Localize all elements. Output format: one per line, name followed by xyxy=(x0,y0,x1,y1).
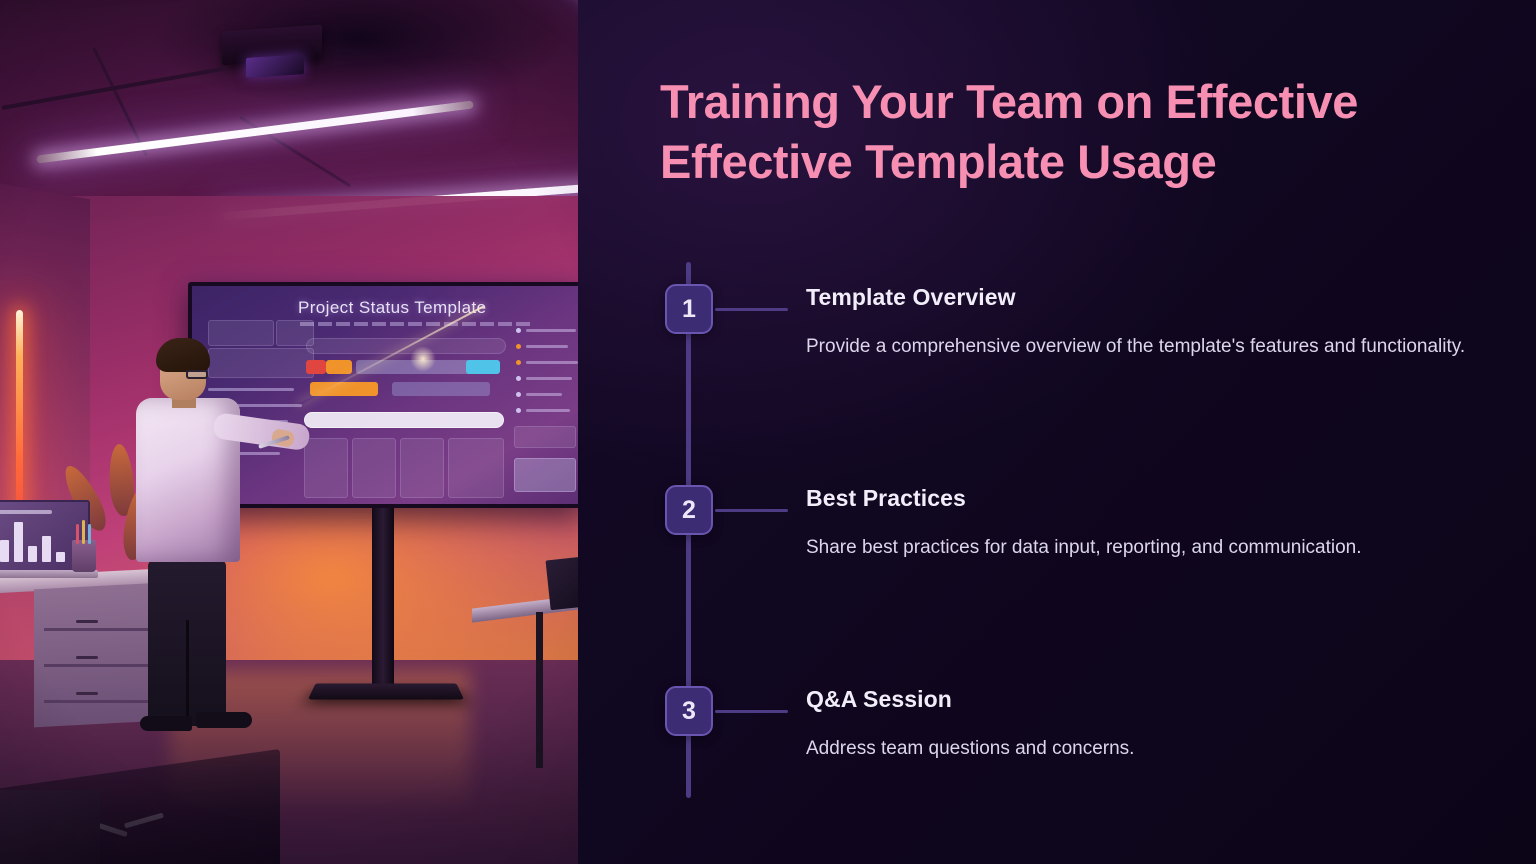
screen-legend-label xyxy=(526,377,572,380)
laptop-chart-bar xyxy=(56,552,65,562)
laptop-chart-bar xyxy=(42,536,51,562)
presentation-photo: Project Status Template xyxy=(0,0,578,864)
screen-bar xyxy=(392,382,490,396)
screen-title: Project Status Template xyxy=(298,298,486,318)
timeline-step-badge: 1 xyxy=(665,284,713,334)
drawer-handle xyxy=(76,620,98,623)
wall-display: Project Status Template xyxy=(188,282,578,508)
screen-bar xyxy=(326,360,352,374)
timeline-connector xyxy=(715,509,788,512)
screen-widget xyxy=(208,348,314,378)
screen-card xyxy=(400,438,444,498)
screen-legend-dot xyxy=(516,344,521,349)
slide-root: Project Status Template xyxy=(0,0,1536,864)
pencil xyxy=(88,524,91,544)
screen-card xyxy=(352,438,396,498)
laptop-chart-bar xyxy=(0,540,9,562)
drawer-line xyxy=(44,628,152,631)
screen-card xyxy=(514,426,576,448)
pencil-cup xyxy=(72,540,96,572)
presenter-glasses-icon xyxy=(186,370,208,379)
content-panel: Training Your Team on Effective Effectiv… xyxy=(578,0,1536,864)
timeline-connector xyxy=(715,710,788,713)
foreground-object xyxy=(0,790,100,864)
screen-legend-dot xyxy=(516,392,521,397)
side-table-leg xyxy=(536,612,543,768)
screen-legend-label xyxy=(526,345,568,348)
laptop-chart-bar xyxy=(28,546,37,562)
screen-legend-dot xyxy=(516,376,521,381)
laptop-chart-bar xyxy=(14,522,23,562)
timeline-item-heading: Q&A Session xyxy=(806,686,1466,714)
timeline-step-badge: 3 xyxy=(665,686,713,736)
timeline-item-body: Best Practices Share best practices for … xyxy=(806,485,1466,564)
slide-title: Training Your Team on Effective Effectiv… xyxy=(660,72,1470,192)
timeline-item-description: Share best practices for data input, rep… xyxy=(806,532,1466,565)
timeline-connector xyxy=(715,308,788,311)
screen-legend-dot xyxy=(516,328,521,333)
timeline-item-body: Q&A Session Address team questions and c… xyxy=(806,686,1466,765)
screen-legend-label xyxy=(526,393,562,396)
projector-lens-icon xyxy=(246,54,304,78)
timeline-item-heading: Template Overview xyxy=(806,284,1466,312)
screen-widget xyxy=(208,320,274,346)
screen-legend-dot xyxy=(516,408,521,413)
presenter-shoe xyxy=(140,716,192,731)
screen-card xyxy=(514,458,576,492)
screen-legend-label xyxy=(526,409,570,412)
ceiling-shadow xyxy=(150,0,570,110)
screen-lens-flare xyxy=(410,346,436,372)
screen-text-line xyxy=(208,388,294,391)
drawer-handle xyxy=(76,692,98,695)
screen-progress-track xyxy=(304,412,504,428)
screen-card xyxy=(304,438,348,498)
side-table-laptop xyxy=(546,556,578,611)
pencil xyxy=(76,524,79,544)
presenter-shoe xyxy=(196,712,252,728)
presenter-hair xyxy=(156,338,210,372)
presenter-leg-split xyxy=(186,620,189,726)
pencil xyxy=(82,520,85,544)
desk-drawers xyxy=(34,583,162,728)
laptop-screen-header xyxy=(0,510,52,514)
drawer-line xyxy=(44,700,152,703)
screen-legend-label xyxy=(526,329,576,332)
timeline-item-body: Template Overview Provide a comprehensiv… xyxy=(806,284,1466,363)
display-stand-neck xyxy=(372,508,394,690)
drawer-line xyxy=(44,664,152,667)
screen-bar xyxy=(306,360,326,374)
timeline-list: 1 Template Overview Provide a comprehens… xyxy=(660,262,1480,802)
screen-bar xyxy=(466,360,500,374)
screen-subtitle-lines xyxy=(300,322,530,326)
screen-legend-dot xyxy=(516,360,521,365)
timeline-item-heading: Best Practices xyxy=(806,485,1466,513)
screen-card xyxy=(448,438,504,498)
timeline-step-badge: 2 xyxy=(665,485,713,535)
timeline-item-description: Provide a comprehensive overview of the … xyxy=(806,331,1466,364)
timeline-item-description: Address team questions and concerns. xyxy=(806,733,1466,766)
screen-legend-label xyxy=(526,361,578,364)
display-stand-base xyxy=(308,683,464,699)
drawer-handle xyxy=(76,656,98,659)
